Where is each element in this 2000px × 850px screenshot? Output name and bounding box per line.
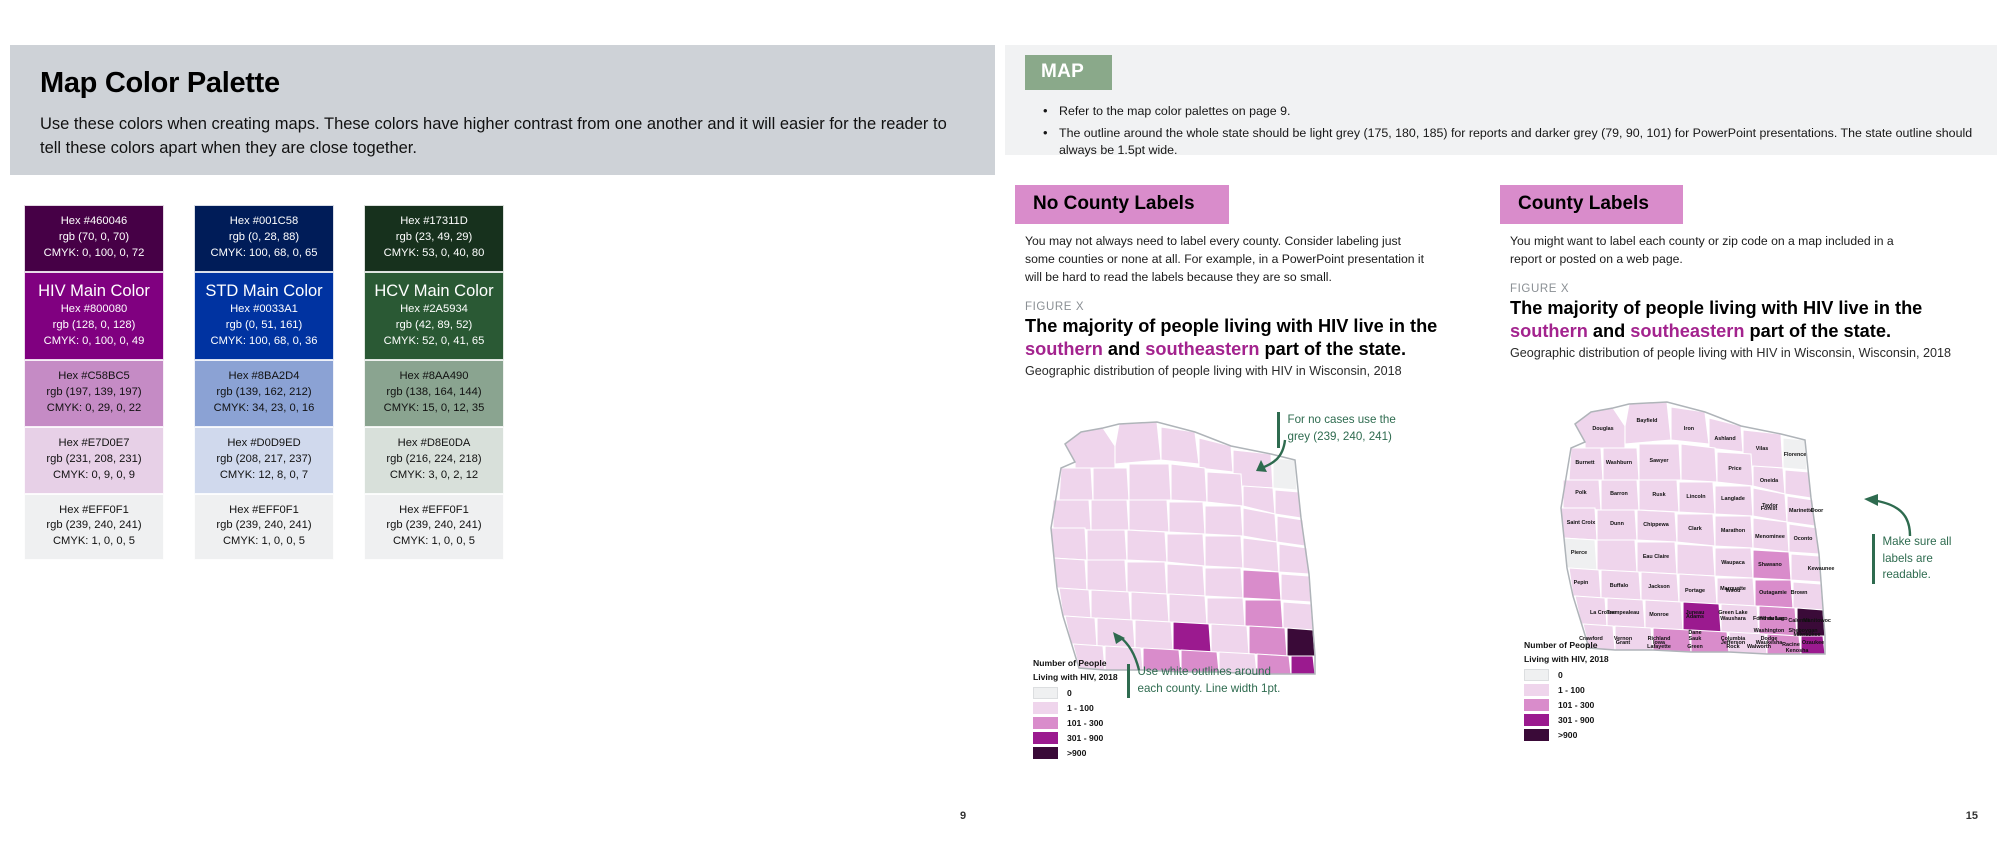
legend-swatch [1033, 717, 1058, 729]
color-swatch: Hex #D0D9EDrgb (208, 217, 237)CMYK: 12, … [194, 427, 334, 494]
swatch-rgb: rgb (231, 208, 231) [46, 453, 141, 465]
figure-title-pre: The majority of people living with HIV l… [1510, 298, 1922, 318]
list-item: Refer to the map color palettes on page … [1037, 103, 1982, 121]
legend-swatch [1033, 747, 1058, 759]
swatch-rgb: rgb (23, 49, 29) [396, 231, 473, 243]
legend-swatch [1524, 714, 1549, 726]
county-label: Washburn [1606, 460, 1632, 466]
callout-text: Use white outlines around each county. L… [1138, 664, 1288, 696]
swatch-rgb: rgb (70, 0, 70) [59, 231, 129, 243]
county-label: Fond du Lac [1753, 616, 1785, 622]
swatch-column-std: Hex #001C58rgb (0, 28, 88)CMYK: 100, 68,… [194, 205, 334, 560]
swatch-hex: Hex #EFF0F1 [399, 504, 469, 516]
swatch-hex: Hex #D8E0DA [398, 437, 471, 449]
panel-tag-county-labels: County Labels [1500, 185, 1683, 224]
color-swatch: Hex #C58BC5rgb (197, 139, 197)CMYK: 0, 2… [24, 360, 164, 427]
callout-no-cases-grey: For no cases use the grey (239, 240, 241… [1277, 412, 1407, 448]
color-swatch: Hex #8AA490rgb (138, 164, 144)CMYK: 15, … [364, 360, 504, 427]
panel-blurb: You may not always need to label every c… [1025, 233, 1425, 287]
callout-bar [1872, 534, 1875, 584]
county-label: Lafayette [1647, 644, 1671, 650]
color-swatch: Hex #460046rgb (70, 0, 70)CMYK: 0, 100, … [24, 205, 164, 272]
legend-swatch [1033, 702, 1058, 714]
county-label: Marinette [1789, 508, 1813, 514]
legend-swatch [1033, 687, 1058, 699]
county-label: Sawyer [1650, 458, 1670, 464]
county-label: Kenosha [1786, 648, 1810, 654]
swatch-cmyk: CMYK: 100, 68, 0, 65 [211, 247, 318, 259]
curved-arrow-icon [1109, 630, 1149, 672]
figure-title-highlight-southern: southern [1510, 321, 1588, 341]
panel-county-labels: County Labels You might want to label ea… [1490, 185, 2000, 704]
swatch-hex: Hex #0033A1 [230, 303, 298, 315]
callout-text: Make sure all labels are readable. [1883, 534, 1953, 583]
legend-label: 301 - 900 [1558, 715, 1594, 725]
swatch-cmyk: CMYK: 0, 100, 0, 49 [44, 335, 145, 347]
swatch-cmyk: CMYK: 12, 8, 0, 7 [220, 469, 308, 481]
county-label: Green Lake [1718, 610, 1747, 616]
county-label: Door [1811, 508, 1824, 514]
legend-swatch [1033, 732, 1058, 744]
swatch-hex: Hex #C58BC5 [58, 370, 130, 382]
county-label: Pierce [1571, 550, 1587, 556]
legend-swatch [1524, 729, 1549, 741]
swatch-name: HIV Main Color [29, 281, 159, 302]
county-label: Grant [1616, 640, 1631, 646]
left-page: Map Color Palette Use these colors when … [0, 0, 1000, 850]
figure-subtitle: Geographic distribution of people living… [1025, 364, 1485, 378]
county-label: Price [1728, 466, 1741, 472]
county-label: Pepin [1574, 580, 1589, 586]
swatch-hex: Hex #2A5934 [400, 303, 468, 315]
legend-label: >900 [1558, 730, 1577, 740]
county-label: Portage [1685, 588, 1705, 594]
swatch-cmyk: CMYK: 34, 23, 0, 16 [214, 402, 315, 414]
page-number-left: 9 [960, 810, 966, 822]
swatch-cmyk: CMYK: 15, 0, 12, 35 [384, 402, 485, 414]
legend-label: >900 [1067, 748, 1086, 758]
swatch-rgb: rgb (42, 89, 52) [396, 319, 473, 331]
swatch-rgb: rgb (0, 28, 88) [229, 231, 299, 243]
swatch-rgb: rgb (208, 217, 237) [216, 453, 311, 465]
section-tag-map: MAP [1025, 55, 1112, 90]
color-swatch: Hex #8BA2D4rgb (139, 162, 212)CMYK: 34, … [194, 360, 334, 427]
figure-title: The majority of people living with HIV l… [1025, 315, 1455, 362]
swatch-rgb: rgb (128, 0, 128) [53, 319, 136, 331]
legend-title-line1: Number of People [1033, 657, 1118, 670]
swatch-hex: Hex #8AA490 [399, 370, 468, 382]
county-label: Monroe [1649, 612, 1668, 618]
right-page: MAP Refer to the map color palettes on p… [1000, 0, 2000, 850]
county-label: Green [1687, 644, 1703, 650]
swatch-cmyk: CMYK: 53, 0, 40, 80 [384, 247, 485, 259]
county-label: Eau Claire [1643, 554, 1669, 560]
county-label: Walworth [1747, 644, 1771, 650]
legend-label: 1 - 100 [1558, 685, 1585, 695]
county-label: Oconto [1794, 536, 1814, 542]
curved-arrow-icon [1243, 436, 1289, 478]
swatch-hex: Hex #EFF0F1 [59, 504, 129, 516]
page-title: Map Color Palette [40, 67, 280, 100]
color-swatch: Hex #EFF0F1rgb (239, 240, 241)CMYK: 1, 0… [194, 494, 334, 561]
figure-title-pre: The majority of people living with HIV l… [1025, 316, 1437, 336]
county-label: Brown [1791, 590, 1808, 596]
county-label: Calumet [1788, 618, 1809, 624]
legend-entry: >900 [1033, 747, 1118, 759]
panel-blurb: You might want to label each county or z… [1510, 233, 1910, 269]
swatch-rgb: rgb (139, 162, 212) [216, 386, 311, 398]
swatch-column-hiv: Hex #460046rgb (70, 0, 70)CMYK: 0, 100, … [24, 205, 164, 560]
swatch-cmyk: CMYK: 3, 0, 2, 12 [390, 469, 478, 481]
map-note-band: MAP Refer to the map color palettes on p… [1005, 45, 1997, 155]
figure-subtitle: Geographic distribution of people living… [1510, 346, 1970, 360]
legend-title-line2: Living with HIV, 2018 [1033, 671, 1118, 684]
swatch-cmyk: CMYK: 0, 9, 0, 9 [53, 469, 135, 481]
legend-entry: 1 - 100 [1524, 684, 1609, 696]
list-item: The outline around the whole state shoul… [1037, 125, 1982, 160]
swatch-rgb: rgb (239, 240, 241) [386, 519, 481, 531]
swatch-rgb: rgb (239, 240, 241) [46, 519, 141, 531]
color-swatch: Hex #E7D0E7rgb (231, 208, 231)CMYK: 0, 9… [24, 427, 164, 494]
map-county-labels-area: DouglasBayfieldIronAshlandVilasBurnettWa… [1490, 374, 2000, 704]
swatch-hex: Hex #460046 [61, 215, 128, 227]
county-label: Sauk [1689, 636, 1702, 642]
legend-entry: 1 - 100 [1033, 702, 1118, 714]
swatch-grid: Hex #460046rgb (70, 0, 70)CMYK: 0, 100, … [24, 205, 504, 560]
figure-title-highlight-southeastern: southeastern [1630, 321, 1744, 341]
legend-label: 101 - 300 [1067, 718, 1103, 728]
legend-title-line1: Number of People [1524, 639, 1609, 652]
swatch-hex: Hex #E7D0E7 [59, 437, 130, 449]
county-label: Dunn [1610, 521, 1624, 527]
county-label: Buffalo [1610, 583, 1629, 589]
swatch-cmyk: CMYK: 1, 0, 0, 5 [223, 535, 305, 547]
county-label: Kewaunee [1808, 566, 1835, 572]
county-label: Rusk [1652, 492, 1665, 498]
swatch-rgb: rgb (216, 224, 218) [386, 453, 481, 465]
county-label: Clark [1688, 526, 1702, 532]
color-swatch: Hex #17311Drgb (23, 49, 29)CMYK: 53, 0, … [364, 205, 504, 272]
figure-title: The majority of people living with HIV l… [1510, 297, 1940, 344]
county-label: Jackson [1648, 584, 1670, 590]
swatch-hex: Hex #17311D [400, 215, 468, 227]
swatch-rgb: rgb (239, 240, 241) [216, 519, 311, 531]
swatch-cmyk: CMYK: 1, 0, 0, 5 [53, 535, 135, 547]
legend-entry: 301 - 900 [1524, 714, 1609, 726]
county-label: Chippewa [1643, 522, 1669, 528]
figure-title-mid: and [1103, 339, 1145, 359]
swatch-hex: Hex #8BA2D4 [229, 370, 300, 382]
swatch-name: HCV Main Color [369, 281, 499, 302]
county-label: Juneau [1686, 610, 1705, 616]
swatch-cmyk: CMYK: 1, 0, 0, 5 [393, 535, 475, 547]
map-guideline-list: Refer to the map color palettes on page … [1037, 103, 1982, 164]
legend-swatch [1524, 684, 1549, 696]
map-legend-county-labels: Number of People Living with HIV, 2018 0… [1524, 639, 1609, 741]
county-label: Taylor [1762, 503, 1779, 509]
figure-title-highlight-southern: southern [1025, 339, 1103, 359]
county-label: Rock [1726, 644, 1739, 650]
legend-swatch [1524, 669, 1549, 681]
county-label: Marathon [1721, 528, 1745, 534]
legend-entry: 0 [1524, 669, 1609, 681]
panel-no-county-labels: No County Labels You may not always need… [1005, 185, 1495, 722]
county-label: Douglas [1592, 426, 1613, 432]
color-swatch: STD Main ColorHex #0033A1rgb (0, 51, 161… [194, 272, 334, 360]
county-label: Vilas [1756, 446, 1769, 452]
swatch-cmyk: CMYK: 52, 0, 41, 65 [384, 335, 485, 347]
county-label: Saint Croix [1567, 520, 1595, 526]
legend-entry: >900 [1524, 729, 1609, 741]
county-label: Washington [1754, 628, 1785, 634]
legend-title-line2: Living with HIV, 2018 [1524, 653, 1609, 666]
swatch-rgb: rgb (0, 51, 161) [226, 319, 303, 331]
county-label: Florence [1784, 452, 1806, 458]
two-page-spread: Map Color Palette Use these colors when … [0, 0, 2000, 850]
callout-text: For no cases use the grey (239, 240, 241… [1288, 412, 1408, 444]
legend-label: 0 [1067, 688, 1072, 698]
figure-kicker: FIGURE X [1510, 283, 2000, 295]
swatch-hex: Hex #800080 [61, 303, 128, 315]
county-label: Ashland [1714, 436, 1735, 442]
legend-label: 301 - 900 [1067, 733, 1103, 743]
legend-label: 101 - 300 [1558, 700, 1594, 710]
swatch-rgb: rgb (197, 139, 197) [46, 386, 141, 398]
swatch-hex: Hex #EFF0F1 [229, 504, 299, 516]
county-label: Iron [1684, 426, 1694, 432]
figure-title-mid: and [1588, 321, 1630, 341]
color-swatch: Hex #001C58rgb (0, 28, 88)CMYK: 100, 68,… [194, 205, 334, 272]
legend-entry: 301 - 900 [1033, 732, 1118, 744]
color-swatch: HCV Main ColorHex #2A5934rgb (42, 89, 52… [364, 272, 504, 360]
figure-kicker: FIGURE X [1025, 301, 1495, 313]
map-legend-no-labels: Number of People Living with HIV, 2018 0… [1033, 657, 1118, 759]
county-label: Shawano [1758, 562, 1782, 568]
county-label: Lincoln [1686, 494, 1705, 500]
color-swatch: HIV Main ColorHex #800080rgb (128, 0, 12… [24, 272, 164, 360]
county-label: Langlade [1721, 496, 1745, 502]
swatch-name: STD Main Color [199, 281, 329, 302]
swatch-hex: Hex #001C58 [230, 215, 298, 227]
county-label: Waupaca [1721, 560, 1745, 566]
county-label: La Crosse [1590, 610, 1616, 616]
page-subtitle: Use these colors when creating maps. The… [40, 113, 970, 161]
callout-white-outlines: Use white outlines around each county. L… [1127, 664, 1287, 698]
county-label: Polk [1575, 490, 1586, 496]
legend-label: 1 - 100 [1067, 703, 1094, 713]
page-number-right: 15 [1966, 810, 1978, 822]
swatch-hex: Hex #D0D9ED [227, 437, 300, 449]
county-label: Outagamie [1759, 590, 1787, 596]
callout-labels-readable: Make sure all labels are readable. [1872, 534, 1952, 584]
legend-label: 0 [1558, 670, 1563, 680]
color-swatch: Hex #EFF0F1rgb (239, 240, 241)CMYK: 1, 0… [24, 494, 164, 561]
map-no-labels-area: Number of People Living with HIV, 2018 0… [1005, 392, 1495, 722]
county-label: Burnett [1575, 460, 1594, 466]
figure-title-highlight-southeastern: southeastern [1145, 339, 1259, 359]
swatch-column-hcv: Hex #17311Drgb (23, 49, 29)CMYK: 53, 0, … [364, 205, 504, 560]
county-label: Marquette [1720, 586, 1746, 592]
swatch-cmyk: CMYK: 100, 68, 0, 36 [211, 335, 318, 347]
figure-title-post: part of the state. [1744, 321, 1891, 341]
legend-entry: 101 - 300 [1033, 717, 1118, 729]
county-label: Barron [1610, 491, 1628, 497]
swatch-cmyk: CMYK: 0, 100, 0, 72 [44, 247, 145, 259]
county-label: Waushara [1720, 616, 1747, 622]
county-label: Dane [1688, 630, 1701, 636]
legend-swatch [1524, 699, 1549, 711]
palette-banner: Map Color Palette Use these colors when … [10, 45, 995, 175]
legend-entry: 101 - 300 [1524, 699, 1609, 711]
color-swatch: Hex #D8E0DArgb (216, 224, 218)CMYK: 3, 0… [364, 427, 504, 494]
county-label: Bayfield [1637, 418, 1658, 424]
panel-tag-no-county-labels: No County Labels [1015, 185, 1229, 224]
swatch-rgb: rgb (138, 164, 144) [386, 386, 481, 398]
county-label: Ozaukee [1802, 640, 1824, 646]
color-swatch: Hex #EFF0F1rgb (239, 240, 241)CMYK: 1, 0… [364, 494, 504, 561]
figure-title-post: part of the state. [1259, 339, 1406, 359]
county-label: Menominee [1755, 534, 1785, 540]
legend-entry: 0 [1033, 687, 1118, 699]
county-label: Oneida [1760, 478, 1779, 484]
curved-arrow-icon [1858, 492, 1914, 538]
swatch-cmyk: CMYK: 0, 29, 0, 22 [47, 402, 142, 414]
county-label: Milwaukee [1794, 632, 1821, 638]
